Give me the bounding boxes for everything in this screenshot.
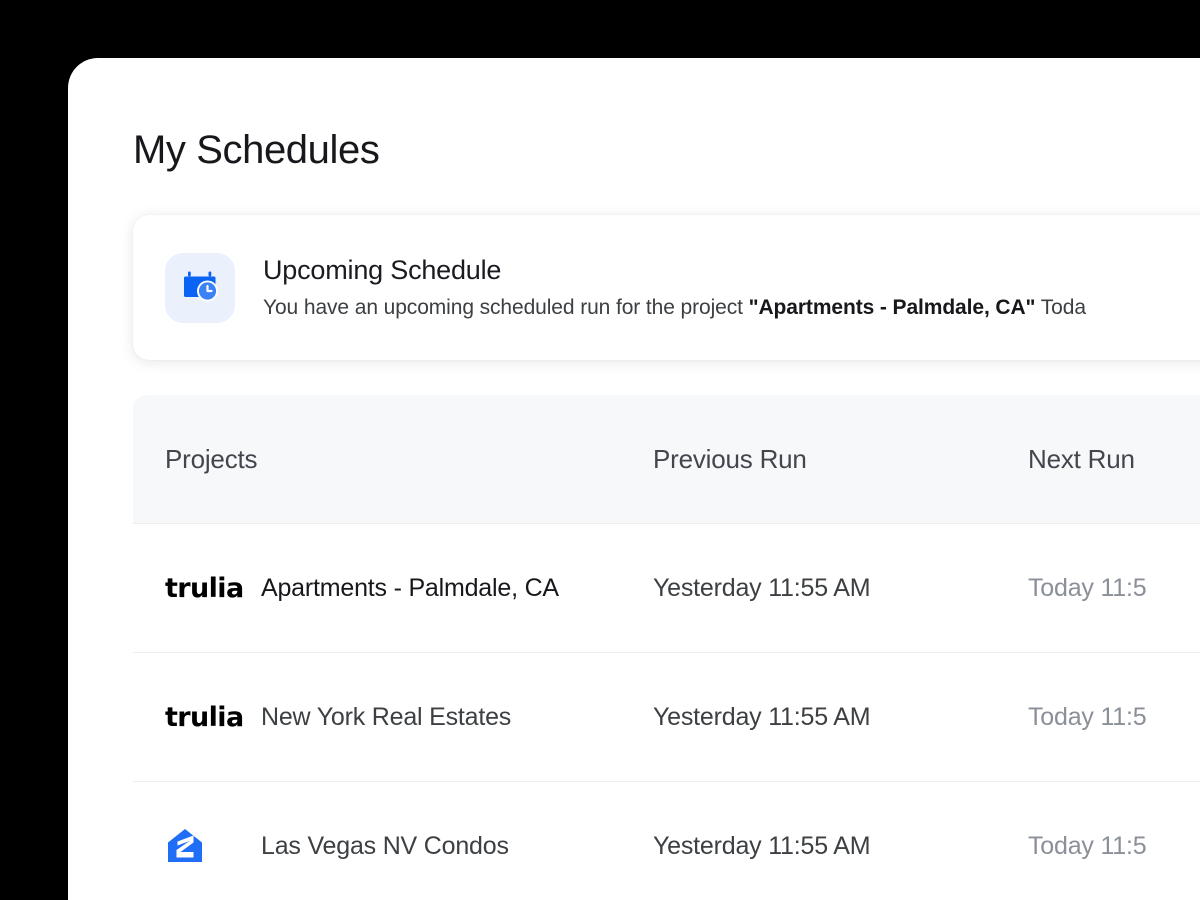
calendar-clock-icon	[180, 265, 220, 310]
banner-desc-prefix: You have an upcoming scheduled run for t…	[263, 296, 749, 319]
next-run-value: Today 11:5	[1028, 832, 1146, 860]
column-header-projects[interactable]: Projects	[133, 444, 653, 475]
project-name: Apartments - Palmdale, CA	[261, 574, 559, 603]
previous-run-value: Yesterday 11:55 AM	[653, 703, 870, 731]
banner-title: Upcoming Schedule	[263, 253, 1086, 287]
project-name: New York Real Estates	[261, 703, 511, 732]
table-header-row: Projects Previous Run Next Run	[133, 395, 1200, 523]
cell-previous-run: Yesterday 11:55 AM	[653, 703, 1028, 732]
previous-run-value: Yesterday 11:55 AM	[653, 574, 870, 602]
cell-project: trulia Apartments - Palmdale, CA	[133, 574, 653, 603]
previous-run-value: Yesterday 11:55 AM	[653, 832, 870, 860]
trulia-logo: trulia	[165, 704, 261, 731]
next-run-value: Today 11:5	[1028, 574, 1146, 602]
page-title: My Schedules	[133, 124, 379, 176]
cell-next-run: Today 11:5	[1028, 832, 1200, 861]
banner-desc-suffix: Toda	[1035, 296, 1086, 319]
trulia-logo: trulia	[165, 575, 261, 602]
cell-project: Las Vegas NV Condos	[133, 826, 653, 866]
cell-previous-run: Yesterday 11:55 AM	[653, 574, 1028, 603]
column-header-previous-run[interactable]: Previous Run	[653, 444, 1028, 475]
banner-text-group: Upcoming Schedule You have an upcoming s…	[263, 253, 1086, 322]
banner-icon-container	[165, 253, 235, 323]
table-row[interactable]: trulia Apartments - Palmdale, CA Yesterd…	[133, 523, 1200, 652]
cell-next-run: Today 11:5	[1028, 574, 1200, 603]
banner-description: You have an upcoming scheduled run for t…	[263, 294, 1086, 322]
banner-desc-project: "Apartments - Palmdale, CA"	[749, 296, 1036, 319]
schedules-table: Projects Previous Run Next Run trulia Ap…	[133, 395, 1200, 900]
app-card: My Schedules Upcoming Schedul	[68, 58, 1200, 900]
screen-root: My Schedules Upcoming Schedul	[0, 0, 1200, 900]
table-row[interactable]: Las Vegas NV Condos Yesterday 11:55 AM T…	[133, 781, 1200, 900]
column-header-next-run[interactable]: Next Run	[1028, 444, 1200, 475]
cell-previous-run: Yesterday 11:55 AM	[653, 832, 1028, 861]
upcoming-schedule-banner[interactable]: Upcoming Schedule You have an upcoming s…	[133, 215, 1200, 360]
table-row[interactable]: trulia New York Real Estates Yesterday 1…	[133, 652, 1200, 781]
zillow-logo	[165, 826, 261, 866]
cell-project: trulia New York Real Estates	[133, 703, 653, 732]
cell-next-run: Today 11:5	[1028, 703, 1200, 732]
project-name: Las Vegas NV Condos	[261, 832, 509, 861]
next-run-value: Today 11:5	[1028, 703, 1146, 731]
